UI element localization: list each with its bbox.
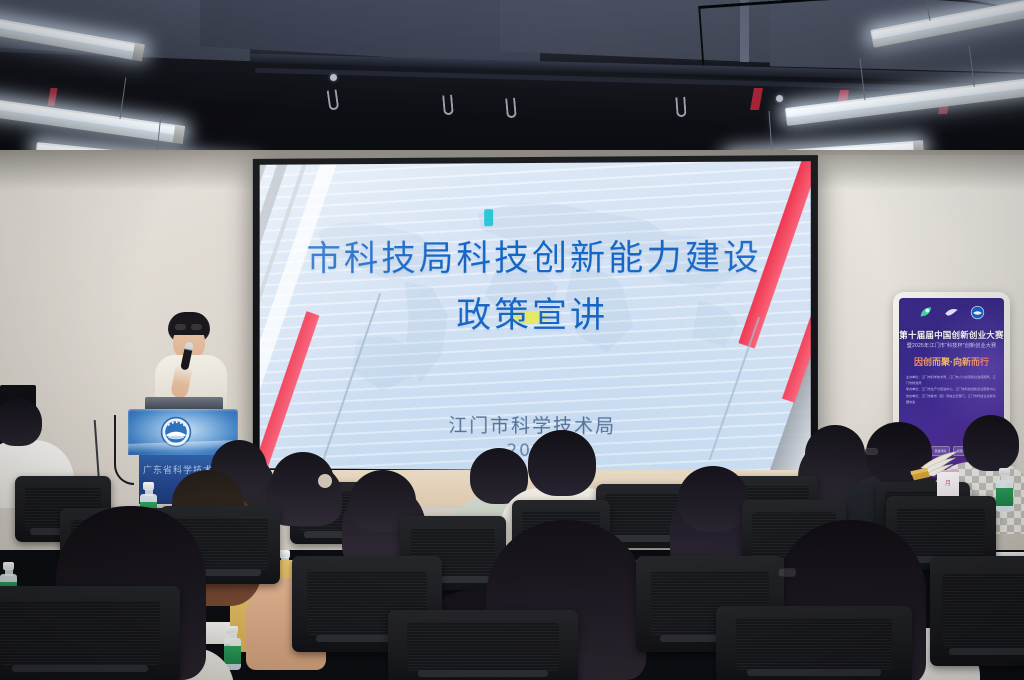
poster-body-line: 协办单位：江门市各市（区）科技主管部门、江门市科技企业孵化器协会 [906, 393, 997, 405]
audience-head [805, 425, 865, 483]
poster-body: 主办单位：江门市科学技术局、江门市人力资源和社会保障局、江门市财政局 承办单位：… [906, 374, 997, 405]
ceiling-hook [675, 97, 686, 118]
leaf-logo-icon [918, 305, 933, 320]
poster-headline-text: 第十届届中国创新创业大赛 [899, 330, 1003, 340]
audience-head [963, 415, 1019, 471]
poster-body-line: 承办单位：江门市生产力促进中心、江门市科技创新创业服务中心 [906, 386, 997, 392]
ceiling [0, 0, 1024, 175]
poster-slogan: 因创而聚·向新而行 [899, 355, 1004, 368]
slide-title-block: 市科技局科技创新能力建设 政策宣讲 [260, 230, 811, 345]
glasses-icon [175, 324, 186, 330]
audience-head [678, 466, 748, 532]
poster-body-line: 主办单位：江门市科学技术局、江门市人力资源和社会保障局、江门市财政局 [906, 374, 997, 386]
glasses-icon [191, 324, 202, 330]
government-emblem-icon [160, 416, 192, 448]
poster-headline: 第十届届中国创新创业大赛 [899, 329, 1004, 341]
conference-room-photo: 市科技局科技创新能力建设 政策宣讲 江门市科学技术局 2025 [0, 0, 1024, 680]
slide-marker-cyan [484, 209, 493, 226]
audience-head [0, 398, 42, 446]
poster-subline: 暨2025年江门市“科技杯”创新创业大赛 [899, 342, 1004, 349]
chair [716, 606, 912, 680]
ceiling-hook [505, 98, 517, 119]
bottle-label [224, 646, 241, 664]
hair-tie [318, 474, 332, 488]
ceiling-sensor-icon [330, 74, 337, 81]
water-bottle [996, 468, 1014, 514]
gold-wing-trophy-icon [905, 448, 959, 484]
ceiling-hook [442, 95, 454, 116]
projection-screen: 市科技局科技创新能力建设 政策宣讲 江门市科学技术局 2025 [253, 155, 818, 479]
chair [930, 556, 1024, 666]
poster-logo-row [899, 305, 1004, 320]
ceiling-sensor-icon [776, 95, 783, 102]
chair [0, 586, 180, 680]
emblem-logo-icon [970, 305, 985, 320]
slide-surface: 市科技局科技创新能力建设 政策宣讲 江门市科学技术局 2025 [260, 161, 811, 472]
bird-logo-icon [944, 305, 959, 320]
slide-subtitle: 江门市科学技术局 [260, 410, 811, 440]
bottle-label [996, 488, 1013, 506]
audience-head [528, 430, 596, 496]
slide-title-line1: 市科技局科技创新能力建设 [260, 230, 811, 288]
chair [388, 610, 578, 680]
slide-title-line2: 政策宣讲 [260, 287, 811, 344]
glasses-icon [865, 448, 878, 455]
microphone-cable [114, 415, 134, 485]
glasses-icon [778, 568, 796, 577]
